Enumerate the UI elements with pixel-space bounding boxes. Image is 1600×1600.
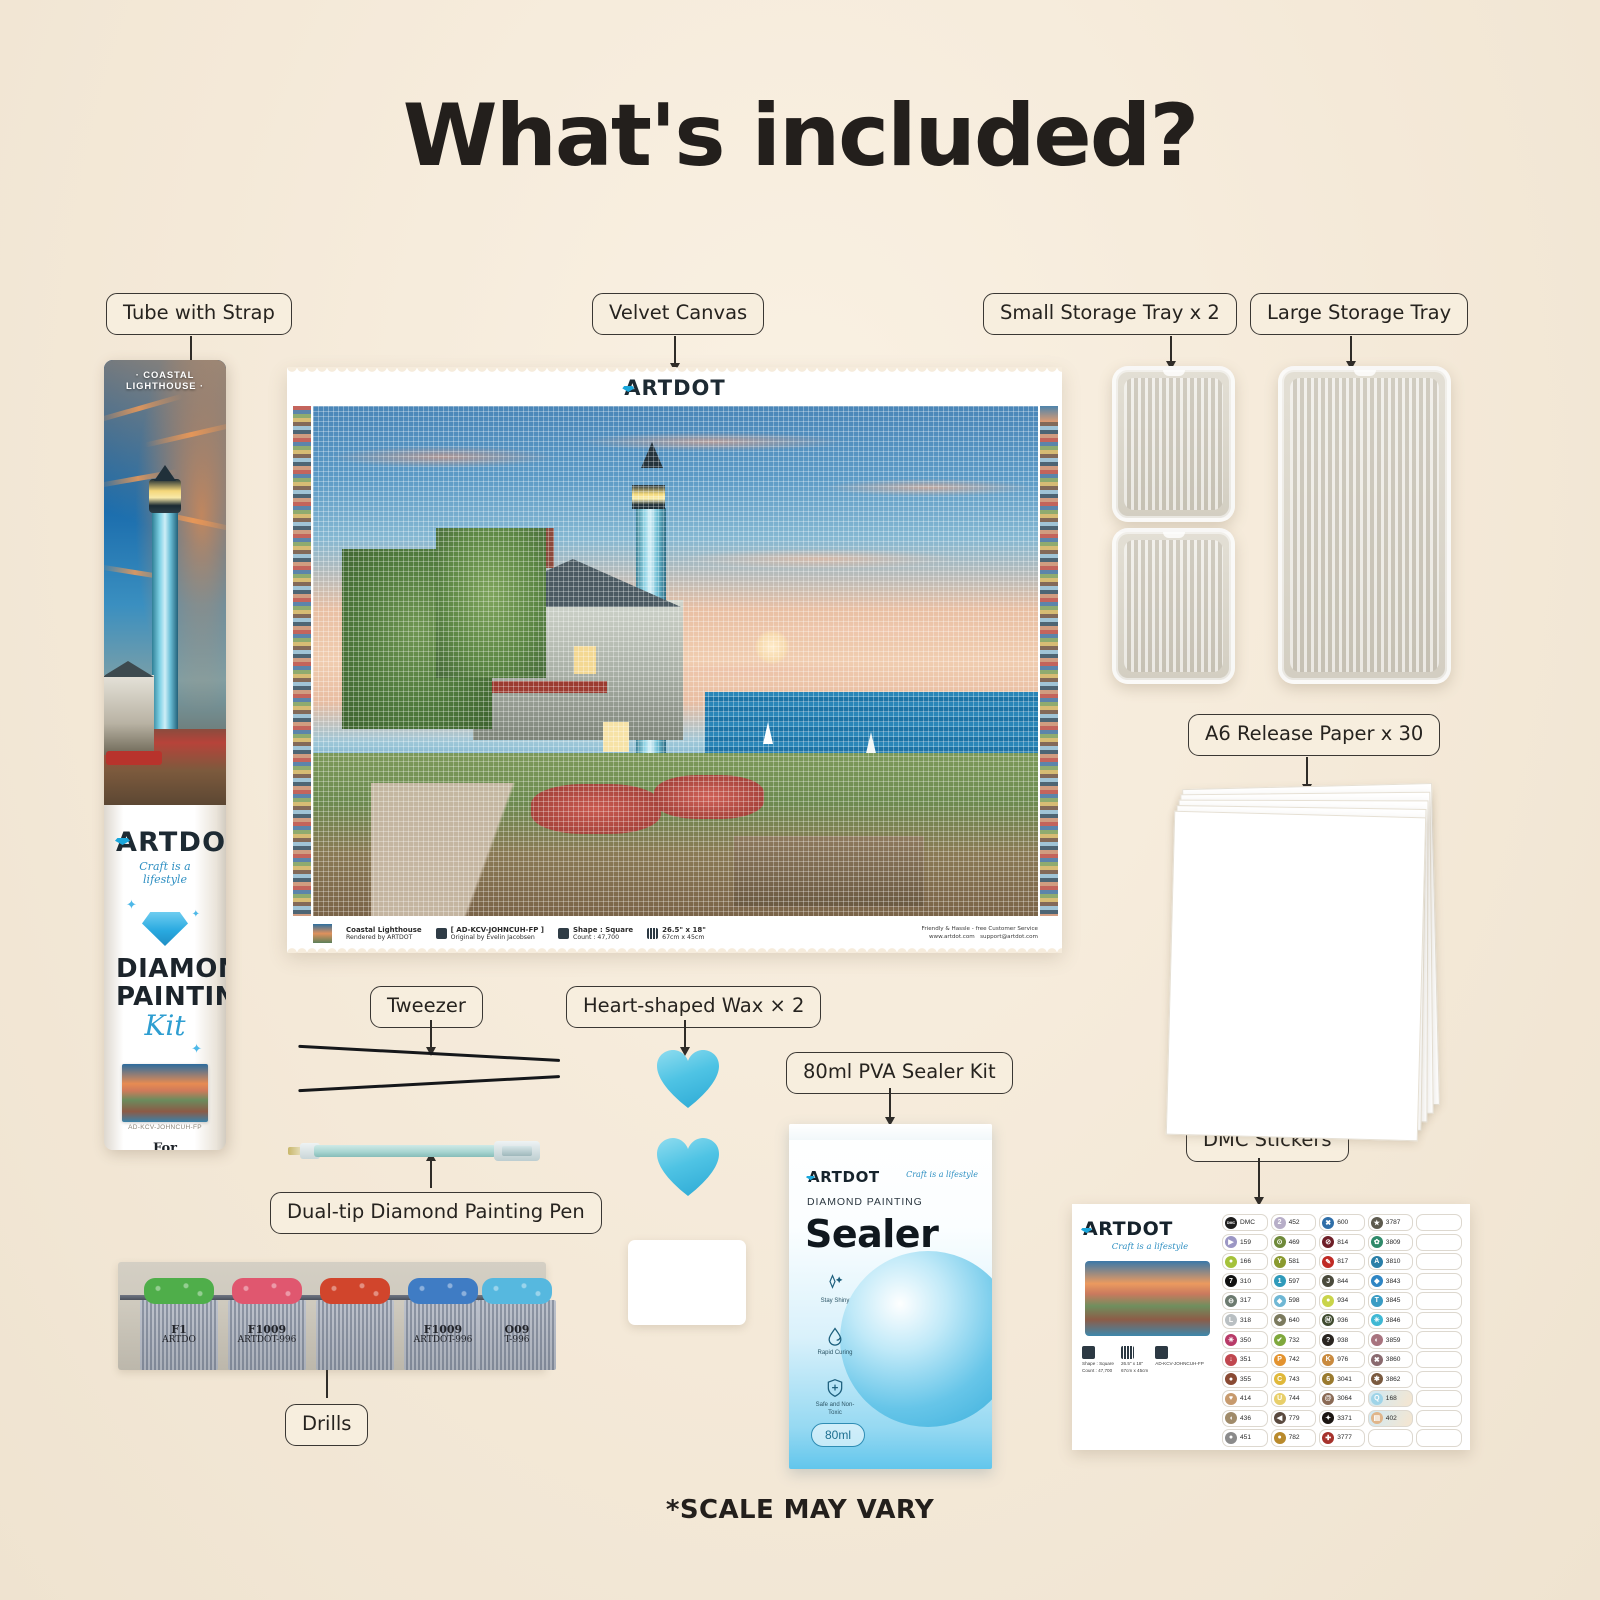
- sealer-feature-1: Stay Shiny: [809, 1274, 861, 1305]
- canvas-count: Count : 47,700: [573, 934, 619, 941]
- dmc-code: 598: [1289, 1297, 1300, 1304]
- dmc-color-dot: J: [1322, 1275, 1334, 1287]
- dual-tip-pen: [288, 1140, 540, 1162]
- heart-wax-1: [657, 1050, 719, 1108]
- drill-beads: [144, 1278, 214, 1304]
- canvas-shape: Shape : Square: [573, 926, 633, 934]
- dmc-code: 934: [1337, 1297, 1348, 1304]
- drill-beads: [232, 1278, 302, 1304]
- dmc-sheet-left-panel: ARTDOT Craft is a lifestyle Shape : Squa…: [1072, 1204, 1220, 1450]
- tube-sku: AD-KCV-JOHNCUH-FP: [116, 1124, 214, 1131]
- drill-beads: [482, 1278, 552, 1304]
- dmc-code: 600: [1337, 1219, 1348, 1226]
- dmc-code: 436: [1240, 1415, 1251, 1422]
- dmc-color-dot: ●: [1322, 1295, 1334, 1307]
- dmc-chip: ✳350: [1222, 1331, 1268, 1348]
- callout-heart-wax: Heart-shaped Wax × 2: [566, 986, 821, 1028]
- tube-red-roof: [106, 751, 162, 765]
- arrow-to-wax: [684, 1020, 686, 1048]
- tweezer: [298, 1053, 560, 1089]
- dmc-chip: 2452: [1271, 1214, 1317, 1231]
- dmc-color-dot: DMC: [1225, 1217, 1237, 1229]
- dmc-color-dot: ↓: [1225, 1354, 1237, 1366]
- sparkle-icon: ✦: [191, 1041, 202, 1057]
- canvas-service-text: Friendly & Hassle - free Customer Servic…: [922, 925, 1038, 933]
- dmc-shape-block: Shape : Square Count : 47,700: [1082, 1346, 1114, 1375]
- small-storage-tray-2: [1112, 528, 1235, 684]
- arrow-to-large-tray: [1350, 336, 1352, 362]
- dmc-chip: ✳3846: [1368, 1312, 1414, 1329]
- canvas-size-block: 26.5" x 18" 67cm x 45cm: [647, 926, 706, 941]
- canvas-contact: www.artdot.com support@artdot.com: [922, 933, 1038, 941]
- pouch-bubble-graphic: [840, 1251, 992, 1427]
- dmc-chip: ⊘814: [1319, 1234, 1365, 1251]
- dmc-code: 779: [1289, 1415, 1300, 1422]
- dmc-chip: C743: [1271, 1371, 1317, 1388]
- sealer-tagline: Craft is a lifestyle: [906, 1170, 978, 1179]
- dmc-code: 414: [1240, 1395, 1251, 1402]
- tray-ribs: [1290, 378, 1439, 672]
- shield-icon: [825, 1378, 845, 1398]
- dmc-color-dot: ♥: [1225, 1393, 1237, 1405]
- canvas-footer-title-block: Coastal Lighthouse Rendered by ARTDOT: [346, 926, 422, 941]
- dmc-color-dot: A: [1371, 1256, 1383, 1268]
- sealer-product-name: Sealer: [805, 1212, 938, 1256]
- dmc-brand: ARTDOT: [1082, 1218, 1173, 1240]
- tube-label: ARTDOT Craft is a lifestyle ✦ ✦ DIAMOND …: [104, 805, 226, 1150]
- canvas-shape-block: Shape : Square Count : 47,700: [558, 926, 633, 941]
- dmc-chip: ●355: [1222, 1371, 1268, 1388]
- dmc-sticker-sheet: ARTDOT Craft is a lifestyle Shape : Squa…: [1072, 1204, 1470, 1450]
- artwork-pixel-grid: [313, 406, 1038, 916]
- callout-pva-sealer: 80ml PVA Sealer Kit: [786, 1052, 1013, 1094]
- dmc-code: 976: [1337, 1356, 1348, 1363]
- tube-tagline: Craft is a lifestyle: [116, 860, 214, 886]
- drill-bag-label: O09T-996: [478, 1324, 556, 1345]
- dmc-chip: ▤402: [1368, 1410, 1414, 1427]
- dmc-chip: ✦3371: [1319, 1410, 1365, 1427]
- wax-card: [628, 1240, 746, 1325]
- sealer-brand: ARTDOT: [807, 1168, 880, 1186]
- drill-bag: F1009ARTDOT-996: [404, 1300, 482, 1370]
- dmc-color-dot: P: [1274, 1354, 1286, 1366]
- dmc-chip: 7310: [1222, 1273, 1268, 1290]
- dmc-chip-empty: [1416, 1234, 1462, 1251]
- dmc-chip: ✖600: [1319, 1214, 1365, 1231]
- dmc-color-dot: ✚: [1322, 1432, 1334, 1444]
- drill-bag: O09T-996: [478, 1300, 556, 1370]
- dmc-chip: Y581: [1271, 1253, 1317, 1270]
- sparkle-icon: ✦: [126, 897, 137, 913]
- page-title: What's included?: [0, 86, 1600, 186]
- drill-bag-label: F1009ARTDOT-996: [228, 1324, 306, 1345]
- callout-tweezer: Tweezer: [370, 986, 483, 1028]
- callout-large-storage-tray: Large Storage Tray: [1250, 293, 1468, 335]
- sku-icon: [1155, 1346, 1168, 1359]
- dmc-chip: 1597: [1271, 1273, 1317, 1290]
- dmc-code: 938: [1337, 1337, 1348, 1344]
- canvas-rendered-by: Rendered by ARTDOT: [346, 934, 412, 941]
- dmc-code: 3041: [1337, 1376, 1352, 1383]
- dmc-color-dot: 2: [1274, 1217, 1286, 1229]
- dmc-chip: ↓351: [1222, 1351, 1268, 1368]
- dmc-code: 3371: [1337, 1415, 1352, 1422]
- tube-heading-2: PAINTING: [116, 984, 214, 1012]
- drill-bag: [316, 1300, 394, 1370]
- dmc-code: 814: [1337, 1239, 1348, 1246]
- drill-bag-label: F1ARTDO: [140, 1324, 218, 1345]
- dmc-color-dot: ▤: [1371, 1412, 1383, 1424]
- dmc-code: 3810: [1386, 1258, 1401, 1265]
- droplet-icon: [825, 1326, 845, 1346]
- dmc-chip: ✱3862: [1368, 1371, 1414, 1388]
- dmc-code: 3787: [1386, 1219, 1401, 1226]
- tube-kit-word: Kit: [116, 1009, 214, 1042]
- dmc-code: 317: [1240, 1297, 1251, 1304]
- dmc-tagline: Craft is a lifestyle: [1088, 1242, 1212, 1252]
- dmc-code: 581: [1289, 1258, 1300, 1265]
- dmc-color-dot: 1: [1274, 1275, 1286, 1287]
- dmc-chip-empty: [1368, 1429, 1414, 1446]
- callout-small-storage-tray: Small Storage Tray x 2: [983, 293, 1237, 335]
- dmc-color-dot: ★: [1371, 1217, 1383, 1229]
- dmc-chip: Q168: [1368, 1390, 1414, 1407]
- dmc-chip: ♥414: [1222, 1390, 1268, 1407]
- dmc-code: DMC: [1240, 1219, 1255, 1226]
- dmc-chip: ◆3843: [1368, 1273, 1414, 1290]
- tray-ribs: [1124, 540, 1223, 672]
- sealer-feature-3: Safe and Non-Toxic: [809, 1378, 861, 1417]
- arrow-to-sealer: [889, 1088, 891, 1118]
- dmc-chip: ⊙469: [1271, 1234, 1317, 1251]
- dmc-chip: A3810: [1368, 1253, 1414, 1270]
- canvas-legend-right: [1040, 406, 1058, 916]
- dmc-color-dot: ✖: [1322, 1217, 1334, 1229]
- dmc-chip: DMCDMC: [1222, 1214, 1268, 1231]
- dmc-color-dot: @: [1322, 1393, 1334, 1405]
- product-tube: · COASTAL LIGHTHOUSE · ARTDOT Craft is a…: [104, 360, 226, 1150]
- release-paper-top-sheet: [1166, 811, 1426, 1141]
- shape-icon: [1082, 1346, 1095, 1359]
- dmc-code: 936: [1337, 1317, 1348, 1324]
- dmc-color-dot: ✎: [1322, 1256, 1334, 1268]
- lighthouse-lantern: [149, 479, 181, 513]
- dmc-chip-empty: [1416, 1273, 1462, 1290]
- dmc-chip: ●782: [1271, 1429, 1317, 1446]
- dmc-color-dot: ✱: [1371, 1373, 1383, 1385]
- lighthouse-roof: [154, 465, 176, 481]
- dmc-chip: 63041: [1319, 1371, 1365, 1388]
- dmc-chip: ★3787: [1368, 1214, 1414, 1231]
- tube-brand: ARTDOT: [116, 827, 226, 858]
- canvas-legend-left: [293, 406, 311, 916]
- tube-banner-text: · COASTAL LIGHTHOUSE ·: [104, 369, 226, 391]
- dmc-color-dot: U: [1274, 1393, 1286, 1405]
- dmc-color-dot: Q: [1371, 1393, 1383, 1405]
- dmc-chip: ✎817: [1319, 1253, 1365, 1270]
- dmc-chip: J844: [1319, 1273, 1365, 1290]
- dmc-meta: Shape : Square Count : 47,700 26.5" x 18…: [1082, 1346, 1212, 1375]
- dmc-color-dot: ●: [1225, 1256, 1237, 1268]
- dmc-chip: ◐3859: [1368, 1331, 1414, 1348]
- dmc-chip: ◖436: [1222, 1410, 1268, 1427]
- dmc-chip: L318: [1222, 1312, 1268, 1329]
- dmc-chip: ?938: [1319, 1331, 1365, 1348]
- dmc-sku: AD-KCV-JOHNCUH-FP: [1155, 1361, 1204, 1368]
- dmc-color-dot: ✖: [1371, 1354, 1383, 1366]
- drill-bags-tray: F1ARTDOF1009ARTDOT-996F1009ARTDOT-996O09…: [118, 1262, 546, 1370]
- canvas-art-name: Coastal Lighthouse: [346, 926, 422, 934]
- arrow-to-release-paper: [1306, 757, 1308, 785]
- dmc-code: 310: [1240, 1278, 1251, 1285]
- dmc-shape-label: Shape : Square: [1082, 1361, 1114, 1368]
- dmc-chip: @3064: [1319, 1390, 1365, 1407]
- drill-beads: [408, 1278, 478, 1304]
- dmc-chip-empty: [1416, 1214, 1462, 1231]
- heart-wax-2: [657, 1138, 719, 1196]
- infographic-canvas: What's included? Tube with Strap Velvet …: [0, 0, 1600, 1600]
- scale-disclaimer: *SCALE MAY VARY: [0, 1495, 1600, 1525]
- callout-dual-tip-pen: Dual-tip Diamond Painting Pen: [270, 1192, 602, 1234]
- arrow-to-tweezer: [430, 1020, 432, 1048]
- dmc-chip-empty: [1416, 1410, 1462, 1427]
- dmc-chip-empty: [1416, 1253, 1462, 1270]
- diamond-graphic-icon: [142, 912, 188, 946]
- dmc-chip: ✔732: [1271, 1331, 1317, 1348]
- pen-body: [314, 1145, 496, 1157]
- dmc-chip: ●934: [1319, 1292, 1365, 1309]
- canvas-footer-thumbnail: [313, 924, 332, 943]
- dmc-chip: ◆598: [1271, 1292, 1317, 1309]
- sealer-feature-label: Safe and Non-Toxic: [816, 1402, 855, 1416]
- ruler-icon: [647, 928, 658, 939]
- dmc-code: 3843: [1386, 1278, 1401, 1285]
- dmc-code: 817: [1337, 1258, 1348, 1265]
- dmc-color-dot: ⊙: [1274, 1236, 1286, 1248]
- dmc-chip-empty: [1416, 1292, 1462, 1309]
- dmc-code: 452: [1289, 1219, 1300, 1226]
- dmc-color-dot: ◆: [1371, 1275, 1383, 1287]
- dmc-chip-empty: [1416, 1371, 1462, 1388]
- dmc-color-dot: ✳: [1371, 1314, 1383, 1326]
- dmc-code: 844: [1337, 1278, 1348, 1285]
- dmc-sku-block: AD-KCV-JOHNCUH-FP: [1155, 1346, 1204, 1375]
- canvas-sku-block: [ AD-KCV-JOHNCUH-FP ] Original by Evelin…: [436, 926, 544, 941]
- legend-thumbnail: [1040, 406, 1058, 422]
- dmc-chip: T3845: [1368, 1292, 1414, 1309]
- drill-beads: [320, 1278, 390, 1304]
- dmc-color-dot: ✿: [1371, 1236, 1383, 1248]
- pva-sealer-pouch: ARTDOT Craft is a lifestyle DIAMOND PAIN…: [789, 1124, 992, 1469]
- tray-notch: [1163, 532, 1185, 538]
- tube-level: For Advanced: [116, 1141, 214, 1150]
- dmc-color-dot: ●: [1225, 1432, 1237, 1444]
- canvas-artwork: [313, 406, 1038, 916]
- dmc-chip: U744: [1271, 1390, 1317, 1407]
- tube-artwork: · COASTAL LIGHTHOUSE ·: [104, 360, 226, 805]
- dmc-code: 168: [1386, 1395, 1397, 1402]
- ruler-icon: [1121, 1346, 1134, 1359]
- dmc-chip-empty: [1416, 1390, 1462, 1407]
- dmc-preview-image: [1085, 1261, 1210, 1336]
- dmc-chip: ✚3777: [1319, 1429, 1365, 1446]
- dmc-code: 3846: [1386, 1317, 1401, 1324]
- dmc-size-block: 26.5" x 18" 67cm x 45cm: [1121, 1346, 1148, 1375]
- sparkle-icon: ✦: [192, 909, 200, 920]
- dmc-color-dot: ◀: [1274, 1412, 1286, 1424]
- callout-velvet-canvas: Velvet Canvas: [592, 293, 764, 335]
- arrow-to-canvas: [674, 336, 676, 364]
- dmc-code: 732: [1289, 1337, 1300, 1344]
- dmc-chip: ⊖317: [1222, 1292, 1268, 1309]
- canvas-service-block: Friendly & Hassle - free Customer Servic…: [922, 925, 1038, 942]
- arrow-to-drills: [326, 1368, 328, 1398]
- dmc-chip: Ⓜ936: [1319, 1312, 1365, 1329]
- arrow-to-dmc: [1258, 1158, 1260, 1198]
- sealer-feature-label: Stay Shiny: [821, 1298, 850, 1304]
- dmc-chip: ♣640: [1271, 1312, 1317, 1329]
- dmc-color-dot: ●: [1225, 1373, 1237, 1385]
- dmc-code: 743: [1289, 1376, 1300, 1383]
- shape-icon: [558, 928, 569, 939]
- dmc-code: 3862: [1386, 1376, 1401, 1383]
- pen-tail: [494, 1141, 540, 1161]
- dmc-code: 355: [1240, 1376, 1251, 1383]
- callout-tube-with-strap: Tube with Strap: [106, 293, 292, 335]
- dmc-color-dot: ⊘: [1322, 1236, 1334, 1248]
- canvas-sku: [ AD-KCV-JOHNCUH-FP ]: [451, 926, 544, 934]
- canvas-footer: Coastal Lighthouse Rendered by ARTDOT [ …: [313, 920, 1038, 946]
- dmc-chip-empty: [1416, 1351, 1462, 1368]
- drill-bag: F1009ARTDOT-996: [228, 1300, 306, 1370]
- dmc-color-dot: ✦: [1322, 1412, 1334, 1424]
- arrow-to-pen: [430, 1160, 432, 1188]
- dmc-chip: P742: [1271, 1351, 1317, 1368]
- dmc-color-dot: Ⓜ: [1322, 1314, 1334, 1326]
- tray-ribs: [1124, 378, 1223, 510]
- dmc-chip-grid: DMCDMC2452✖600★3787▶159⊙469⊘814✿3809●166…: [1220, 1204, 1470, 1450]
- dmc-color-dot: ◐: [1371, 1334, 1383, 1346]
- large-storage-tray: [1278, 366, 1451, 684]
- dmc-chip: ◀779: [1271, 1410, 1317, 1427]
- arrow-to-tube: [190, 336, 192, 362]
- dmc-code: 166: [1240, 1258, 1251, 1265]
- dmc-color-dot: ◆: [1274, 1295, 1286, 1307]
- dmc-code: 782: [1289, 1434, 1300, 1441]
- dmc-color-dot: ✳: [1225, 1334, 1237, 1346]
- dmc-code: 640: [1289, 1317, 1300, 1324]
- dmc-code: 3860: [1386, 1356, 1401, 1363]
- velvet-canvas: ARTDOT: [287, 368, 1062, 952]
- dmc-size-inches: 26.5" x 18": [1121, 1361, 1148, 1368]
- sealer-feature-2: Rapid Curing: [809, 1326, 861, 1357]
- small-storage-tray-1: [1112, 366, 1235, 522]
- drill-bag: F1ARTDO: [140, 1300, 218, 1370]
- arrow-to-small-tray: [1170, 336, 1172, 362]
- dmc-color-dot: ◖: [1225, 1412, 1237, 1424]
- dmc-chip: ✿3809: [1368, 1234, 1414, 1251]
- dmc-code: 318: [1240, 1317, 1251, 1324]
- dmc-code: 3845: [1386, 1297, 1401, 1304]
- dmc-code: 3809: [1386, 1239, 1401, 1246]
- dmc-chip-empty: [1416, 1312, 1462, 1329]
- dmc-code: 351: [1240, 1356, 1251, 1363]
- tweezer-arm: [298, 1075, 560, 1092]
- dmc-code: 3777: [1337, 1434, 1352, 1441]
- canvas-size-cm: 67cm x 45cm: [662, 934, 704, 941]
- dmc-chip: ▶159: [1222, 1234, 1268, 1251]
- pouch-tear-strip: [789, 1124, 992, 1140]
- dmc-code: 451: [1240, 1434, 1251, 1441]
- dmc-chip: ●166: [1222, 1253, 1268, 1270]
- dmc-code: 597: [1289, 1278, 1300, 1285]
- sealer-subtitle: DIAMOND PAINTING: [807, 1196, 923, 1208]
- sparkle-icon: [825, 1274, 845, 1294]
- dmc-code: 3859: [1386, 1337, 1401, 1344]
- dmc-chip-empty: [1416, 1429, 1462, 1446]
- barcode-icon: [436, 928, 447, 939]
- dmc-color-dot: ●: [1274, 1432, 1286, 1444]
- dmc-code: 3064: [1337, 1395, 1352, 1402]
- dmc-code: 350: [1240, 1337, 1251, 1344]
- dmc-code: 402: [1386, 1415, 1397, 1422]
- tray-notch: [1163, 370, 1185, 376]
- dmc-color-dot: ⊖: [1225, 1295, 1237, 1307]
- canvas-size-inches: 26.5" x 18": [662, 926, 706, 934]
- dmc-color-dot: ▶: [1225, 1236, 1237, 1248]
- drill-bag-label: F1009ARTDOT-996: [404, 1324, 482, 1345]
- dmc-chip-empty: [1416, 1331, 1462, 1348]
- dmc-color-dot: ♣: [1274, 1314, 1286, 1326]
- dmc-color-dot: C: [1274, 1373, 1286, 1385]
- canvas-logo: ARTDOT: [287, 376, 1062, 400]
- dmc-size-cm: 67cm x 45cm: [1121, 1368, 1148, 1375]
- dmc-color-dot: ✔: [1274, 1334, 1286, 1346]
- dmc-color-dot: 6: [1322, 1373, 1334, 1385]
- dmc-color-dot: L: [1225, 1314, 1237, 1326]
- dmc-code: 469: [1289, 1239, 1300, 1246]
- dmc-color-dot: 7: [1225, 1275, 1237, 1287]
- tray-notch: [1354, 370, 1376, 376]
- dmc-code: 744: [1289, 1395, 1300, 1402]
- sealer-volume-badge: 80ml: [811, 1423, 865, 1447]
- dmc-chip: K976: [1319, 1351, 1365, 1368]
- dmc-chip: ✖3860: [1368, 1351, 1414, 1368]
- dmc-code: 159: [1240, 1239, 1251, 1246]
- tube-house: [104, 675, 154, 755]
- dmc-color-dot: K: [1322, 1354, 1334, 1366]
- tube-preview-image: [122, 1064, 208, 1122]
- dmc-color-dot: Y: [1274, 1256, 1286, 1268]
- dmc-chip: ●451: [1222, 1429, 1268, 1446]
- callout-release-paper: A6 Release Paper x 30: [1188, 714, 1440, 756]
- callout-drills: Drills: [285, 1404, 368, 1446]
- lighthouse-tower: [152, 501, 178, 751]
- dmc-code: 742: [1289, 1356, 1300, 1363]
- sealer-feature-label: Rapid Curing: [817, 1350, 852, 1356]
- dmc-color-dot: T: [1371, 1295, 1383, 1307]
- dmc-color-dot: ?: [1322, 1334, 1334, 1346]
- canvas-designer: Original by Evelin Jacobsen: [451, 934, 535, 941]
- dmc-count-label: Count : 47,700: [1082, 1368, 1114, 1375]
- tube-heading-1: DIAMOND: [116, 956, 214, 984]
